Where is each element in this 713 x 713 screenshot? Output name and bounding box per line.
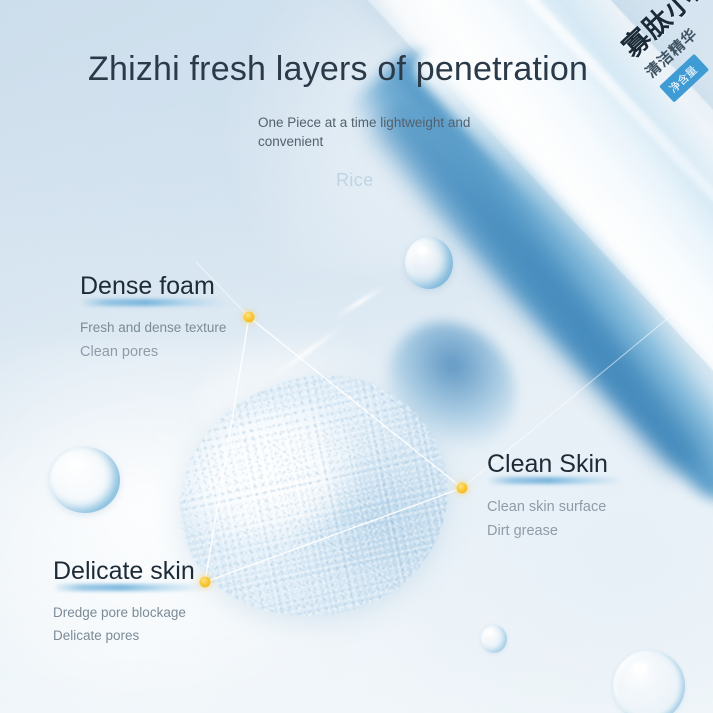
water-droplet-top xyxy=(405,237,453,289)
water-droplet-bottom-small xyxy=(481,625,507,653)
feature-dense-foam-line-1: Fresh and dense texture xyxy=(80,317,226,340)
feature-dense-foam: Dense foam Fresh and dense texture Clean… xyxy=(80,272,226,364)
water-droplet-left-large xyxy=(50,447,120,513)
feature-clean-skin: Clean Skin Clean skin surface Dirt greas… xyxy=(487,450,608,544)
feature-delicate-skin-title: Delicate skin xyxy=(53,557,195,588)
feature-dense-foam-line-2: Clean pores xyxy=(80,340,226,364)
droplet-specular-highlight xyxy=(488,630,494,634)
water-droplet-bottom-large xyxy=(613,650,685,713)
feature-delicate-skin-title-text: Delicate skin xyxy=(53,557,195,585)
marker-dense-foam[interactable] xyxy=(244,312,255,323)
feature-delicate-skin-underline xyxy=(55,584,203,591)
feature-clean-skin-line-2: Dirt grease xyxy=(487,519,608,543)
marker-clean-skin[interactable] xyxy=(457,483,468,494)
feature-clean-skin-title: Clean Skin xyxy=(487,450,608,481)
feature-clean-skin-line-1: Clean skin surface xyxy=(487,495,608,519)
feature-delicate-skin-body: Dredge pore blockage Delicate pores xyxy=(53,602,195,647)
droplet-specular-highlight xyxy=(68,459,83,469)
feature-delicate-skin-line-1: Dredge pore blockage xyxy=(53,602,195,625)
page-subtitle: One Piece at a time lightweight and conv… xyxy=(258,113,488,151)
product-infographic: 寡肽小金 清洁精华 净含量 Zhizhi fresh layers of pen… xyxy=(0,0,713,713)
ghost-watermark-text: Rice xyxy=(336,170,374,191)
feature-clean-skin-body: Clean skin surface Dirt grease xyxy=(487,495,608,544)
page-title: Zhizhi fresh layers of penetration xyxy=(88,50,588,89)
feature-dense-foam-title-text: Dense foam xyxy=(80,272,215,300)
feature-clean-skin-underline xyxy=(489,477,621,484)
feature-delicate-skin-line-2: Delicate pores xyxy=(53,625,195,648)
droplet-specular-highlight xyxy=(632,663,648,674)
droplet-specular-highlight xyxy=(417,246,428,254)
feature-clean-skin-title-text: Clean Skin xyxy=(487,450,608,478)
feature-dense-foam-body: Fresh and dense texture Clean pores xyxy=(80,317,226,364)
feature-delicate-skin: Delicate skin Dredge pore blockage Delic… xyxy=(53,557,195,647)
feature-dense-foam-underline xyxy=(82,299,224,306)
feature-dense-foam-title: Dense foam xyxy=(80,272,215,303)
